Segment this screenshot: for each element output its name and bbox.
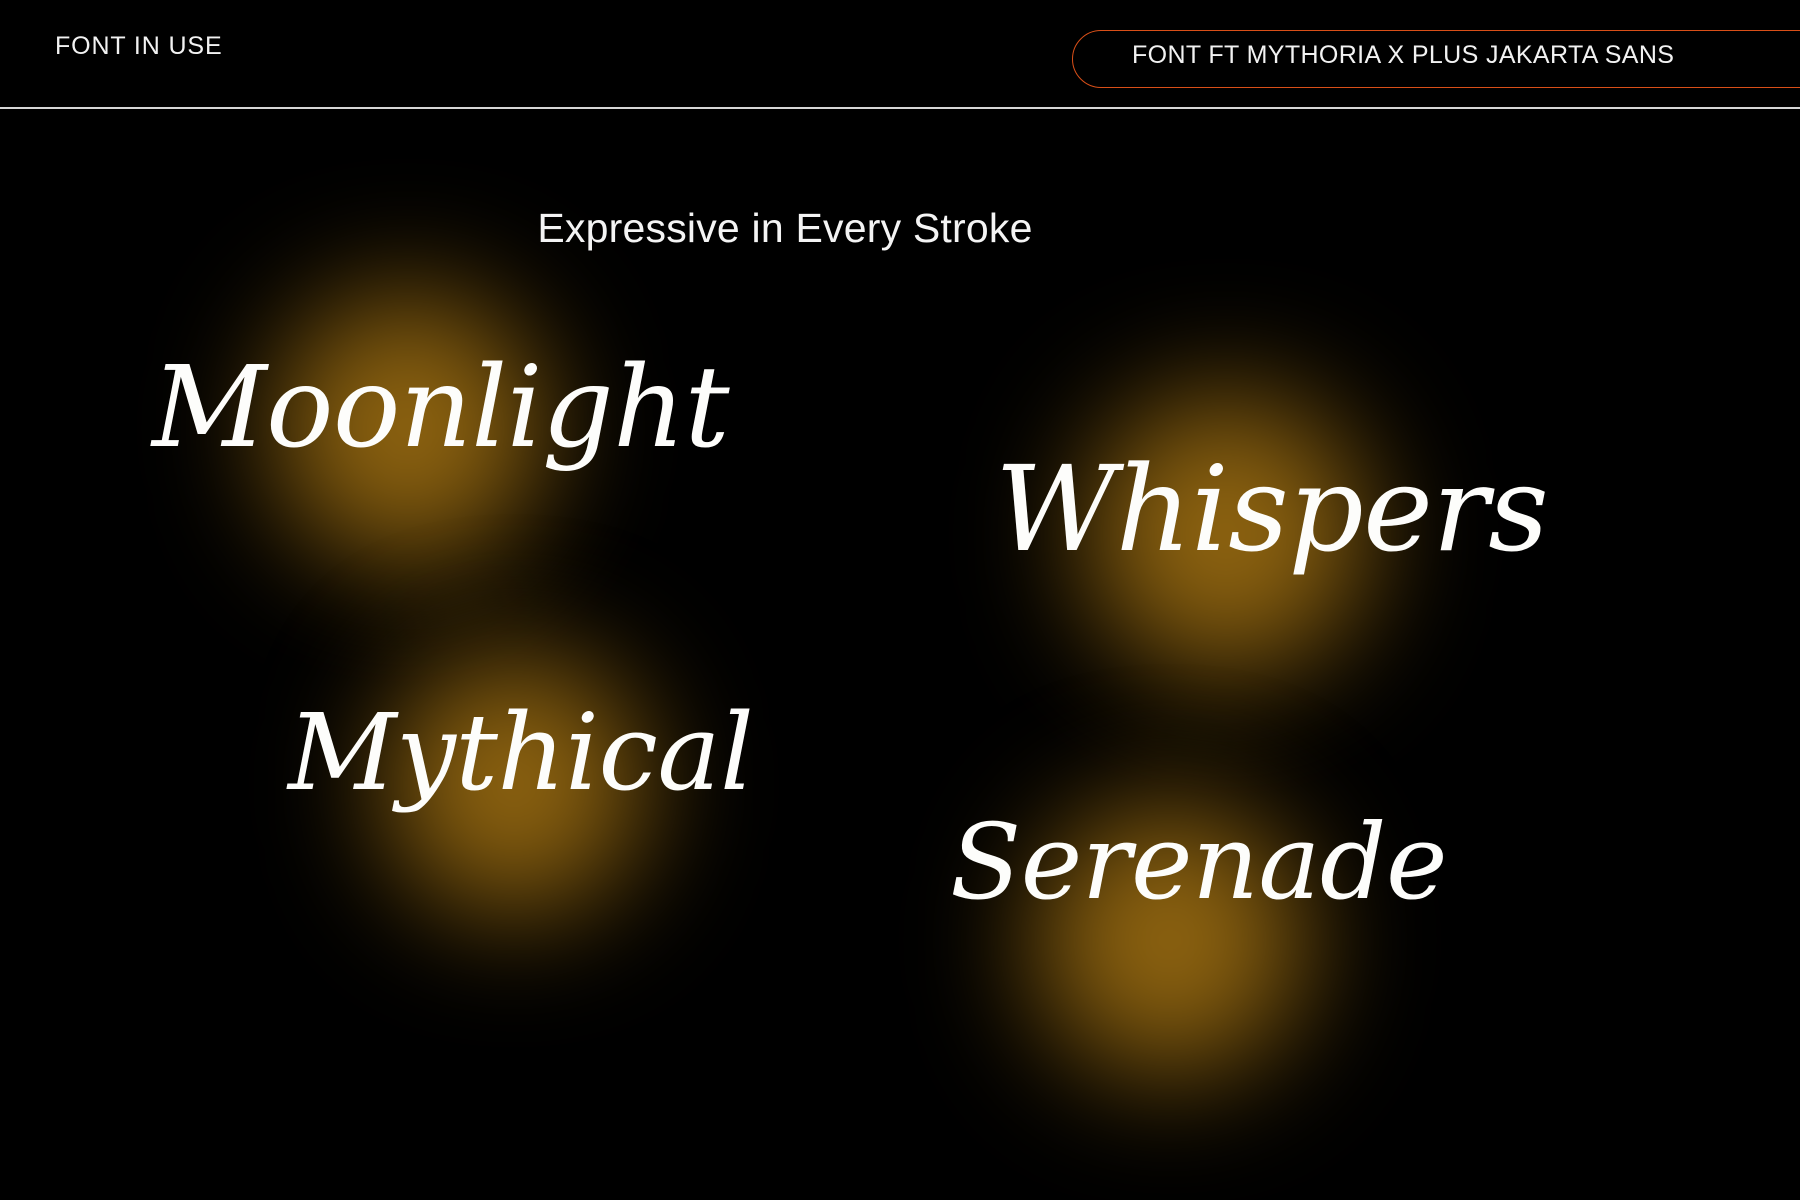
header-divider [0,107,1800,109]
script-sample-whispers: Whispers [995,450,1548,568]
specimen-stage: Expressive in Every Stroke Moonlight Whi… [0,110,1800,1200]
stage-subtitle: Expressive in Every Stroke [0,204,1570,253]
script-sample-moonlight: Moonlight [152,352,729,464]
font-name-badge-label: FONT FT MYTHORIA X PLUS JAKARTA SANS [1132,43,1674,68]
header-label: FONT IN USE [55,34,223,59]
script-sample-mythical: Mythical [288,700,753,806]
page-header: FONT IN USE FONT FT MYTHORIA X PLUS JAKA… [0,0,1800,110]
script-sample-serenade: Serenade [950,810,1447,914]
